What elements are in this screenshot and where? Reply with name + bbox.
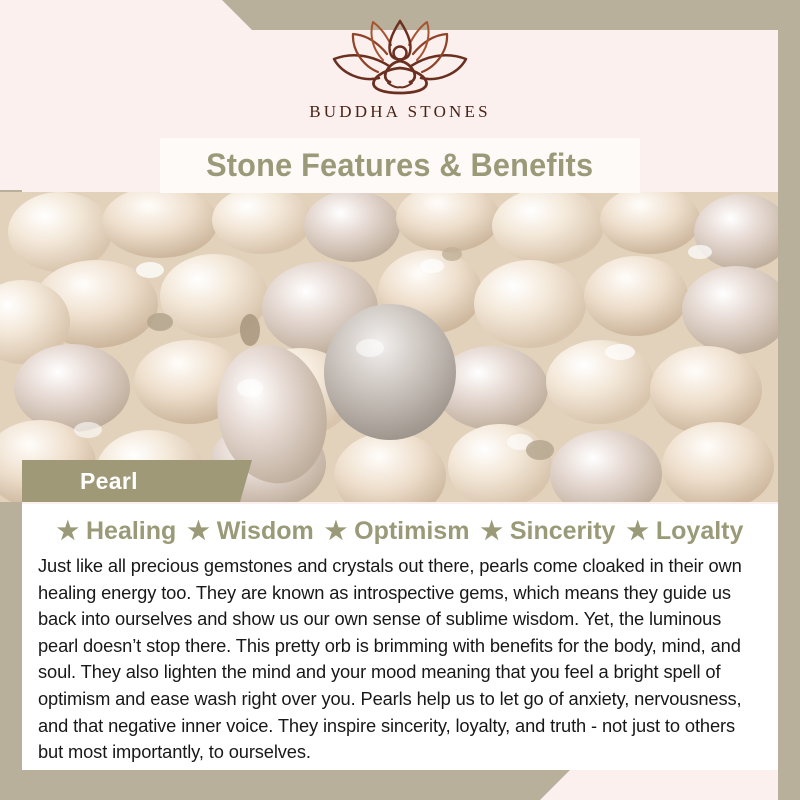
benefit-label: Sincerity [510, 517, 616, 546]
benefit-label: Loyalty [656, 517, 744, 546]
stone-photo: Pearl [0, 192, 778, 502]
page-title: Stone Features & Benefits [206, 147, 593, 184]
brand-wordmark: BUDDHA STONES [309, 102, 491, 122]
benefit-item: ★ Healing [57, 517, 177, 546]
brand-header: BUDDHA STONES [0, 0, 800, 140]
benefit-item: ★ Sincerity [469, 517, 615, 546]
star-icon: ★ [626, 519, 648, 544]
star-icon: ★ [325, 519, 347, 544]
benefits-list: ★ Healing ★ Wisdom ★ Optimism ★ Sincerit… [38, 514, 762, 548]
frame-accent-bottom [0, 770, 800, 800]
stone-name: Pearl [80, 468, 138, 495]
stone-benefits-infographic: BUDDHA STONES Stone Features & Benefits [0, 0, 800, 800]
lotus-meditating-figure-icon [325, 18, 475, 96]
benefit-item: ★ Wisdom [176, 517, 313, 546]
benefit-item: ★ Loyalty [615, 517, 743, 546]
benefit-label: Healing [86, 517, 176, 546]
benefit-label: Wisdom [217, 517, 314, 546]
page-title-banner: Stone Features & Benefits [160, 138, 640, 193]
star-icon: ★ [57, 519, 79, 544]
benefit-item: ★ Optimism [314, 517, 470, 546]
star-icon: ★ [480, 519, 502, 544]
benefit-label: Optimism [354, 517, 469, 546]
benefits-content-panel: ★ Healing ★ Wisdom ★ Optimism ★ Sincerit… [22, 504, 778, 770]
star-icon: ★ [187, 519, 209, 544]
description-text: Just like all precious gemstones and cry… [38, 553, 762, 766]
stone-name-badge: Pearl [22, 460, 252, 502]
